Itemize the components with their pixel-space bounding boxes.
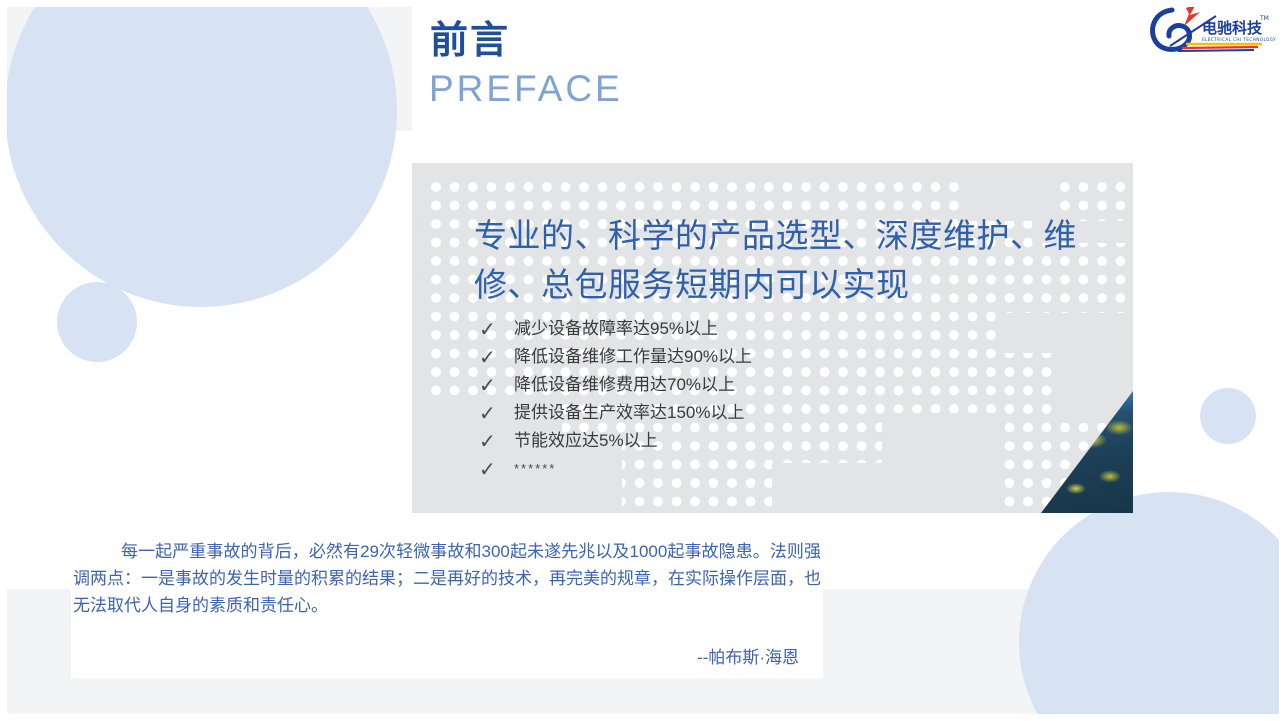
list-item-label: 提供设备生产效率达150%以上 bbox=[514, 403, 744, 422]
list-item-label: 降低设备维修工作量达90%以上 bbox=[514, 347, 752, 366]
svg-text:ELECTRICAL CHI TECHNOLOGY: ELECTRICAL CHI TECHNOLOGY bbox=[1202, 37, 1276, 42]
map-mask bbox=[412, 163, 1133, 173]
svg-text:电驰科技: 电驰科技 bbox=[1202, 19, 1263, 37]
check-icon: ✓ bbox=[479, 315, 501, 343]
list-item-label: 减少设备故障率达95%以上 bbox=[514, 319, 718, 338]
list-item-label: 节能效应达5%以上 bbox=[514, 431, 658, 450]
check-icon: ✓ bbox=[479, 371, 501, 399]
list-item: ✓ 节能效应达5%以上 bbox=[474, 427, 1034, 455]
list-item: ✓ 提供设备生产效率达150%以上 bbox=[474, 399, 1034, 427]
list-item: ✓ 降低设备维修费用达70%以上 bbox=[474, 371, 1034, 399]
svg-text:TM: TM bbox=[1259, 15, 1269, 22]
map-mask bbox=[412, 173, 422, 513]
quote-box: 每一起严重事故的背后，必然有29次轻微事故和300起未遂先兆以及1000起事故隐… bbox=[71, 529, 823, 678]
slide-canvas: 前言 PREFACE 电驰科技 ELECTRICAL CHI TECHNOLOG… bbox=[0, 0, 1286, 721]
company-logo: 电驰科技 ELECTRICAL CHI TECHNOLOGY TM bbox=[1142, 0, 1278, 58]
benefits-list: ✓ 减少设备故障率达95%以上 ✓ 降低设备维修工作量达90%以上 ✓ 降低设备… bbox=[474, 315, 1034, 483]
panel-heading: 专业的、科学的产品选型、深度维护、维修、总包服务短期内可以实现 bbox=[474, 211, 1133, 309]
slide-header: 前言 PREFACE bbox=[412, 0, 1133, 131]
decor-circle-small-left bbox=[57, 282, 137, 362]
decor-circle-small-right bbox=[1200, 388, 1256, 444]
decor-circle-bottom-right bbox=[1019, 492, 1286, 721]
check-icon: ✓ bbox=[479, 455, 501, 483]
page-title-en: PREFACE bbox=[429, 70, 623, 107]
quote-author: --帕布斯·海恩 bbox=[697, 643, 799, 668]
logo-icon: 电驰科技 ELECTRICAL CHI TECHNOLOGY TM bbox=[1142, 0, 1278, 58]
check-icon: ✓ bbox=[479, 427, 501, 455]
list-item: ✓ ****** bbox=[474, 455, 1034, 483]
decor-circle-top-left bbox=[5, 0, 397, 307]
list-item: ✓ 减少设备故障率达95%以上 bbox=[474, 315, 1034, 343]
list-item: ✓ 降低设备维修工作量达90%以上 bbox=[474, 343, 1034, 371]
content-panel: 专业的、科学的产品选型、深度维护、维修、总包服务短期内可以实现 ✓ 减少设备故障… bbox=[412, 163, 1133, 513]
quote-text: 每一起严重事故的背后，必然有29次轻微事故和300起未遂先兆以及1000起事故隐… bbox=[71, 538, 823, 619]
check-icon: ✓ bbox=[479, 343, 501, 371]
page-title-cn: 前言 bbox=[430, 22, 510, 60]
list-item-label: ****** bbox=[514, 461, 556, 476]
list-item-label: 降低设备维修费用达70%以上 bbox=[514, 375, 735, 394]
check-icon: ✓ bbox=[479, 399, 501, 427]
